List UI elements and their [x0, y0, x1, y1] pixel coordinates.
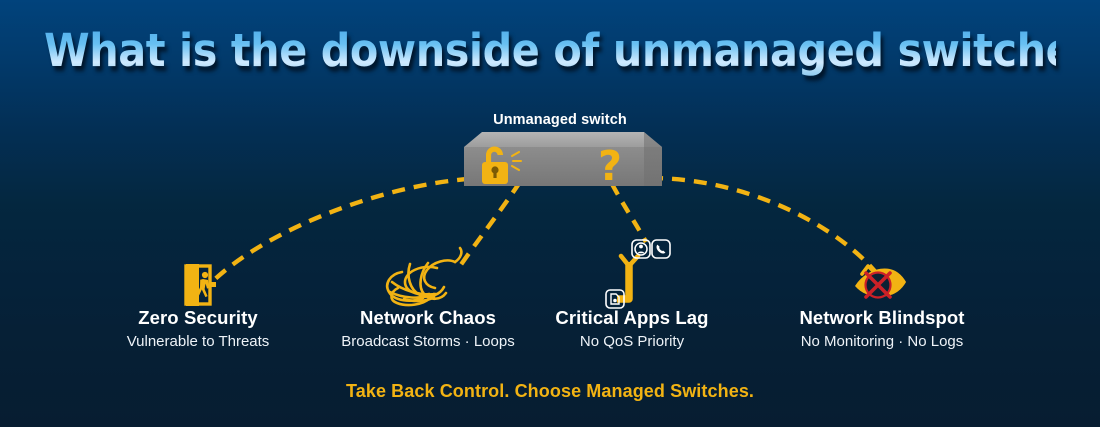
question-mark-icon: ? — [598, 142, 622, 190]
switch-label: Unmanaged switch — [420, 112, 700, 128]
diagram-artwork: ? — [0, 0, 1100, 427]
connector-network-blindspot — [650, 178, 878, 275]
switch-top-face — [464, 132, 662, 147]
infographic-canvas: What is the downside of unmanaged switch… — [0, 0, 1100, 427]
svg-text:?: ? — [598, 142, 622, 190]
connector-zero-security — [212, 178, 492, 282]
item-network-blindspot: Network Blindspot No Monitoring · No Log… — [752, 307, 1012, 350]
switch-side-shade — [644, 132, 662, 186]
item-title: Critical Apps Lag — [502, 307, 762, 329]
connector-lines — [212, 178, 878, 282]
unmanaged-switch-graphic: ? — [464, 132, 662, 190]
item-zero-security: Zero Security Vulnerable to Threats — [68, 307, 328, 350]
tangled-cable-icon — [387, 248, 461, 305]
qos-traffic-icon — [606, 240, 670, 308]
item-title: Zero Security — [68, 307, 328, 329]
open-door-exit-icon — [186, 264, 216, 306]
item-subtitle: No Monitoring · No Logs — [752, 333, 1012, 350]
item-title: Network Blindspot — [752, 307, 1012, 329]
item-subtitle: Vulnerable to Threats — [68, 333, 328, 350]
video-call-icon — [632, 240, 650, 258]
eye-crossed-out-icon — [855, 266, 906, 298]
call-to-action-tagline: Take Back Control. Choose Managed Switch… — [0, 381, 1100, 402]
connector-critical-apps — [612, 184, 646, 242]
item-subtitle: No QoS Priority — [502, 333, 762, 350]
phone-handset-icon — [652, 240, 670, 258]
item-critical-apps-lag: Critical Apps Lag No QoS Priority — [502, 307, 762, 350]
connector-network-chaos — [460, 182, 520, 266]
